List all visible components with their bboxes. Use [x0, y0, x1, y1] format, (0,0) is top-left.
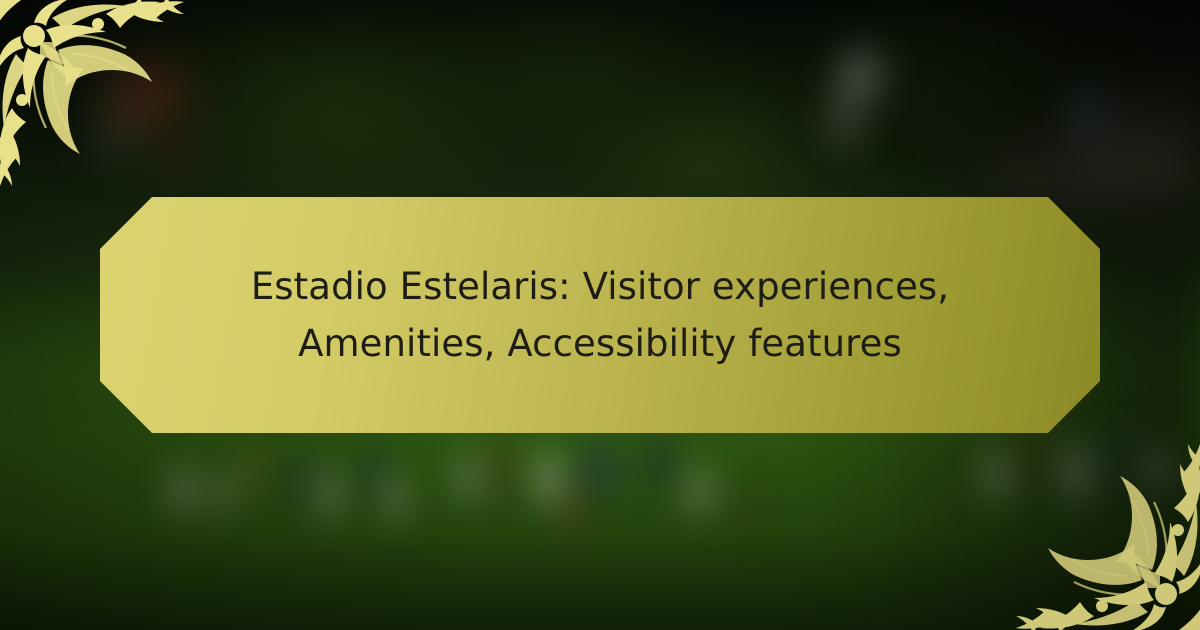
- poster-canvas: Estadio Estelaris: Visitor experiences, …: [0, 0, 1200, 630]
- title-banner: Estadio Estelaris: Visitor experiences, …: [100, 197, 1100, 433]
- page-title: Estadio Estelaris: Visitor experiences, …: [100, 258, 1100, 373]
